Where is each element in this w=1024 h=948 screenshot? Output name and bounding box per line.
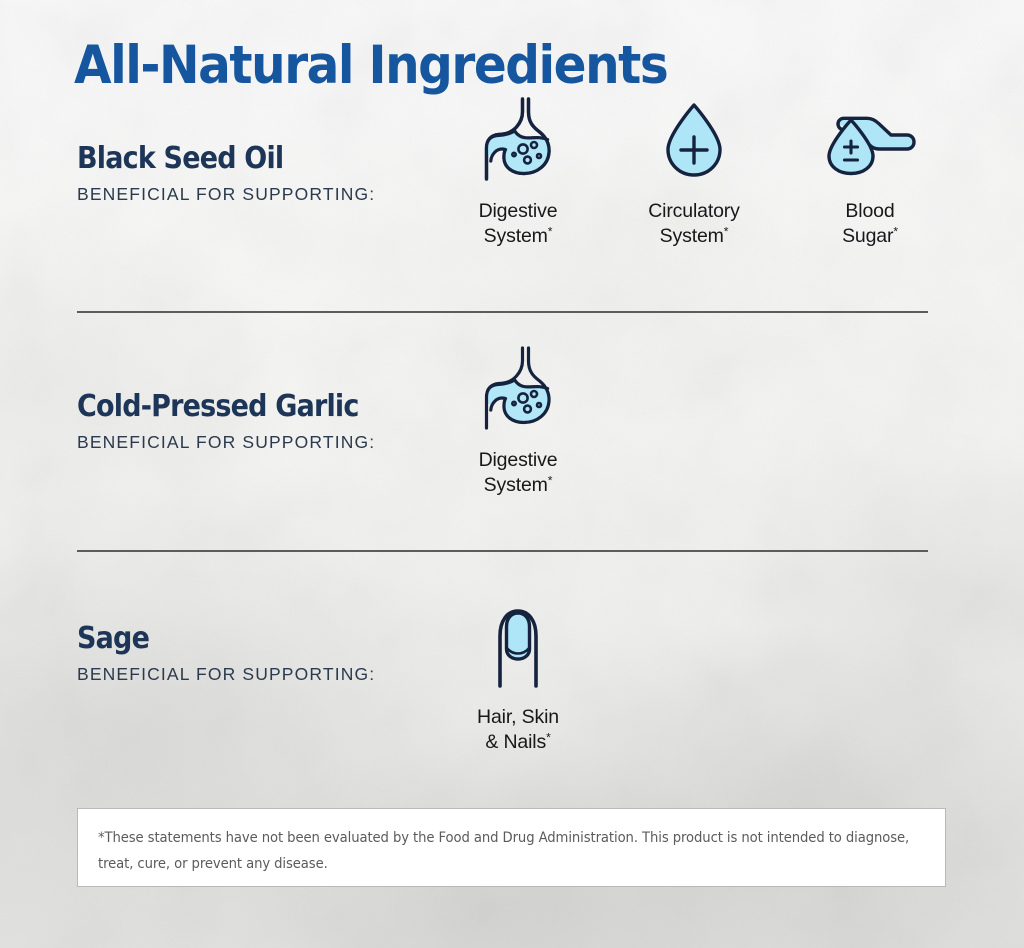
benefit-label: Hair, Skin & Nails* — [477, 705, 559, 755]
benefits-row: Digestive System* Circulatory System* — [430, 96, 958, 249]
benefits-row: Digestive System* — [430, 345, 606, 498]
page-title: All-Natural Ingredients — [74, 34, 667, 98]
benefits-row: Hair, Skin & Nails* — [430, 602, 606, 755]
benefit-item: Digestive System* — [430, 96, 606, 249]
ingredient-subtitle: BENEFICIAL FOR SUPPORTING: — [77, 663, 477, 685]
ingredient-name: Black Seed Oil — [77, 142, 437, 176]
disclaimer-box: *These statements have not been evaluate… — [77, 808, 946, 887]
benefit-item: Hair, Skin & Nails* — [430, 602, 606, 755]
blood-drop-plus-icon — [657, 96, 731, 182]
ingredient-info: Black Seed Oil BENEFICIAL FOR SUPPORTING… — [77, 142, 477, 205]
benefit-label: Blood Sugar* — [842, 199, 898, 249]
benefit-item: Blood Sugar* — [782, 96, 958, 249]
stomach-icon — [479, 96, 557, 182]
hand-blood-drop-icon — [823, 96, 917, 182]
benefit-item: Circulatory System* — [606, 96, 782, 249]
benefit-label: Circulatory System* — [648, 199, 740, 249]
ingredient-subtitle: BENEFICIAL FOR SUPPORTING: — [77, 183, 477, 205]
ingredient-name: Sage — [77, 622, 437, 656]
disclaimer-text: *These statements have not been evaluate… — [98, 825, 921, 877]
ingredient-name: Cold-Pressed Garlic — [77, 390, 437, 424]
ingredient-info: Cold-Pressed Garlic BENEFICIAL FOR SUPPO… — [77, 390, 477, 453]
ingredient-info: Sage BENEFICIAL FOR SUPPORTING: — [77, 622, 477, 685]
benefit-label: Digestive System* — [479, 448, 558, 498]
ingredient-subtitle: BENEFICIAL FOR SUPPORTING: — [77, 431, 477, 453]
benefit-item: Digestive System* — [430, 345, 606, 498]
fingernail-icon — [482, 602, 554, 688]
section-divider — [77, 550, 928, 552]
benefit-label: Digestive System* — [479, 199, 558, 249]
section-divider — [77, 311, 928, 313]
stomach-icon — [479, 345, 557, 431]
